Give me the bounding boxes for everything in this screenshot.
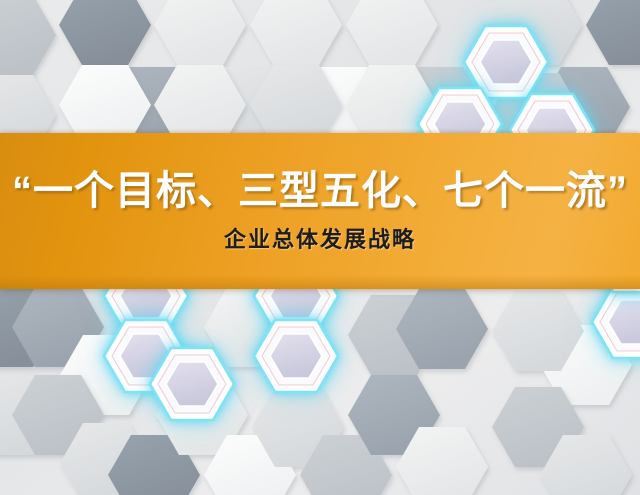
slide-canvas: “一个目标、三型五化、七个一流” 企业总体发展战略	[0, 0, 640, 495]
page-subtitle: 企业总体发展战略	[224, 229, 416, 251]
title-banner: “一个目标、三型五化、七个一流” 企业总体发展战略	[0, 133, 640, 289]
title-banner-content: “一个目标、三型五化、七个一流” 企业总体发展战略	[0, 133, 640, 289]
page-title: “一个目标、三型五化、七个一流”	[12, 171, 628, 211]
